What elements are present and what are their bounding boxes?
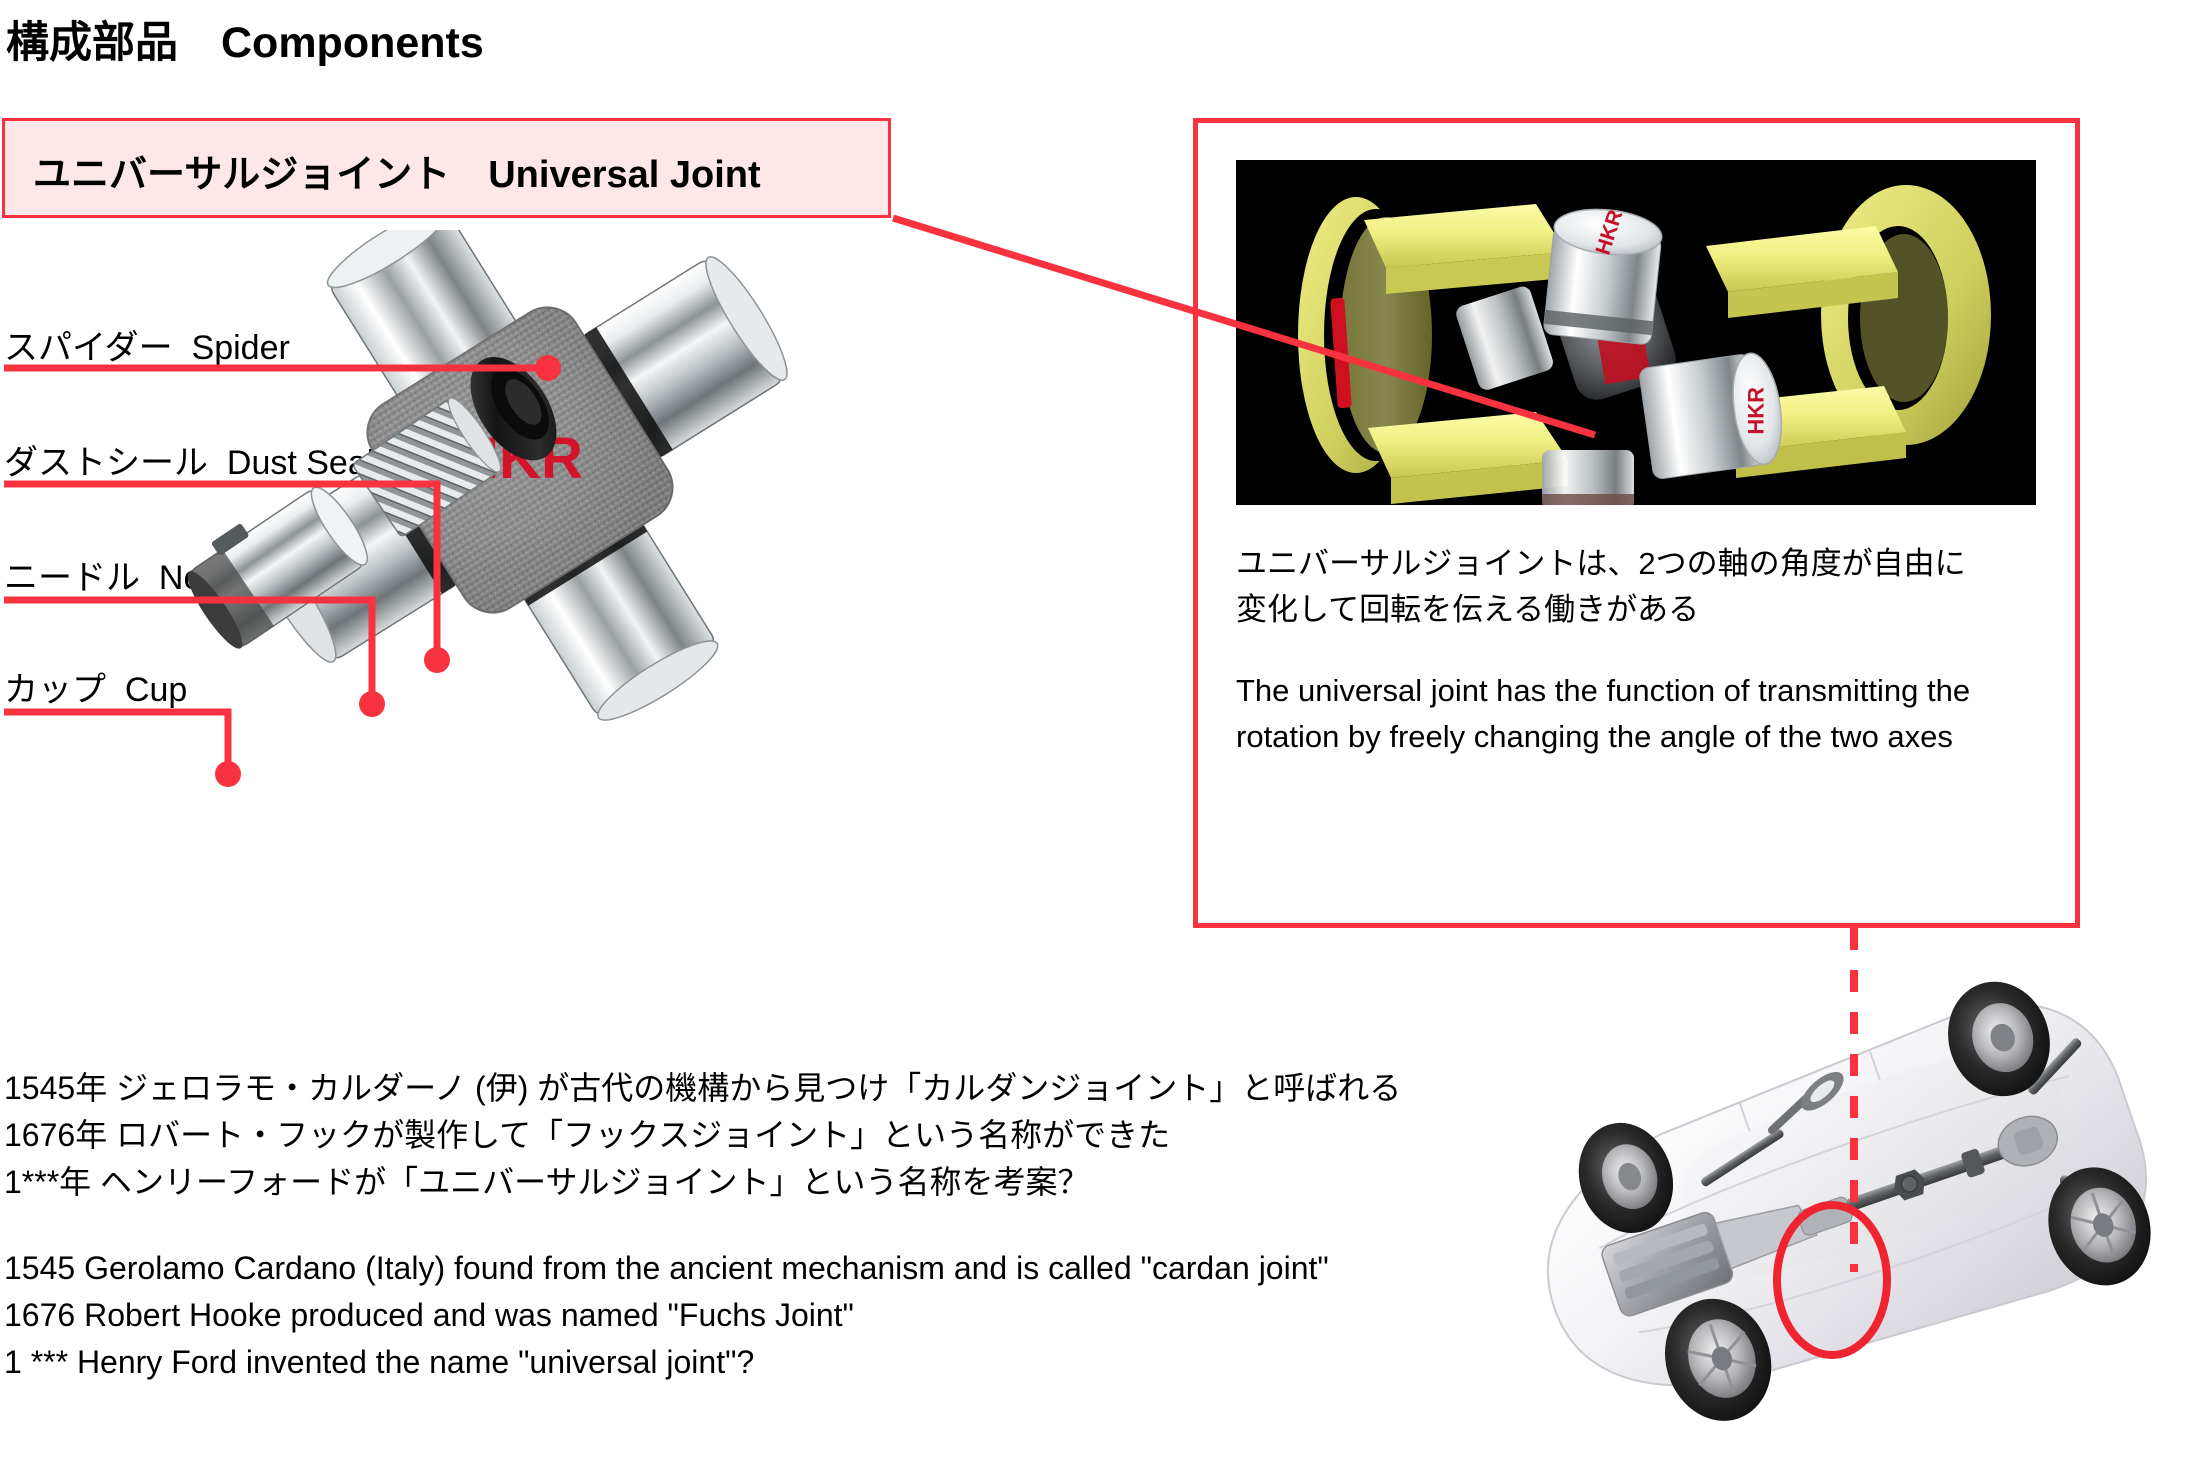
universal-joint-photo: HKR <box>120 230 920 790</box>
car-drivetrain-illustration <box>1480 960 2200 1460</box>
universal-joint-callout-box: ユニバーサルジョイント Universal Joint <box>2 118 891 218</box>
history-text-japanese: 1545年 ジェロラモ・カルダーノ (伊) が古代の機構から見つけ「カルダンジョ… <box>4 1065 1401 1206</box>
page-title: 構成部品 Components <box>6 8 484 70</box>
render-caption-english: The universal joint has the function of … <box>1236 668 1970 760</box>
universal-joint-3d-render: HKR HKR <box>1236 160 2036 505</box>
history-text-english: 1545 Gerolamo Cardano (Italy) found from… <box>4 1245 1329 1386</box>
render-caption-japanese: ユニバーサルジョイントは、2つの軸の角度が自由に 変化して回転を伝える働きがある <box>1236 541 1966 633</box>
slide-canvas: 構成部品 Components ユニバーサルジョイント Universal Jo… <box>0 0 2200 1460</box>
render-brand-mark-lower: HKR <box>1743 387 1768 435</box>
universal-joint-callout-label: ユニバーサルジョイント Universal Joint <box>33 143 761 198</box>
universal-joint-render-panel: HKR HKR ユニバーサルジョイントは、2つの軸の <box>1193 118 2080 928</box>
